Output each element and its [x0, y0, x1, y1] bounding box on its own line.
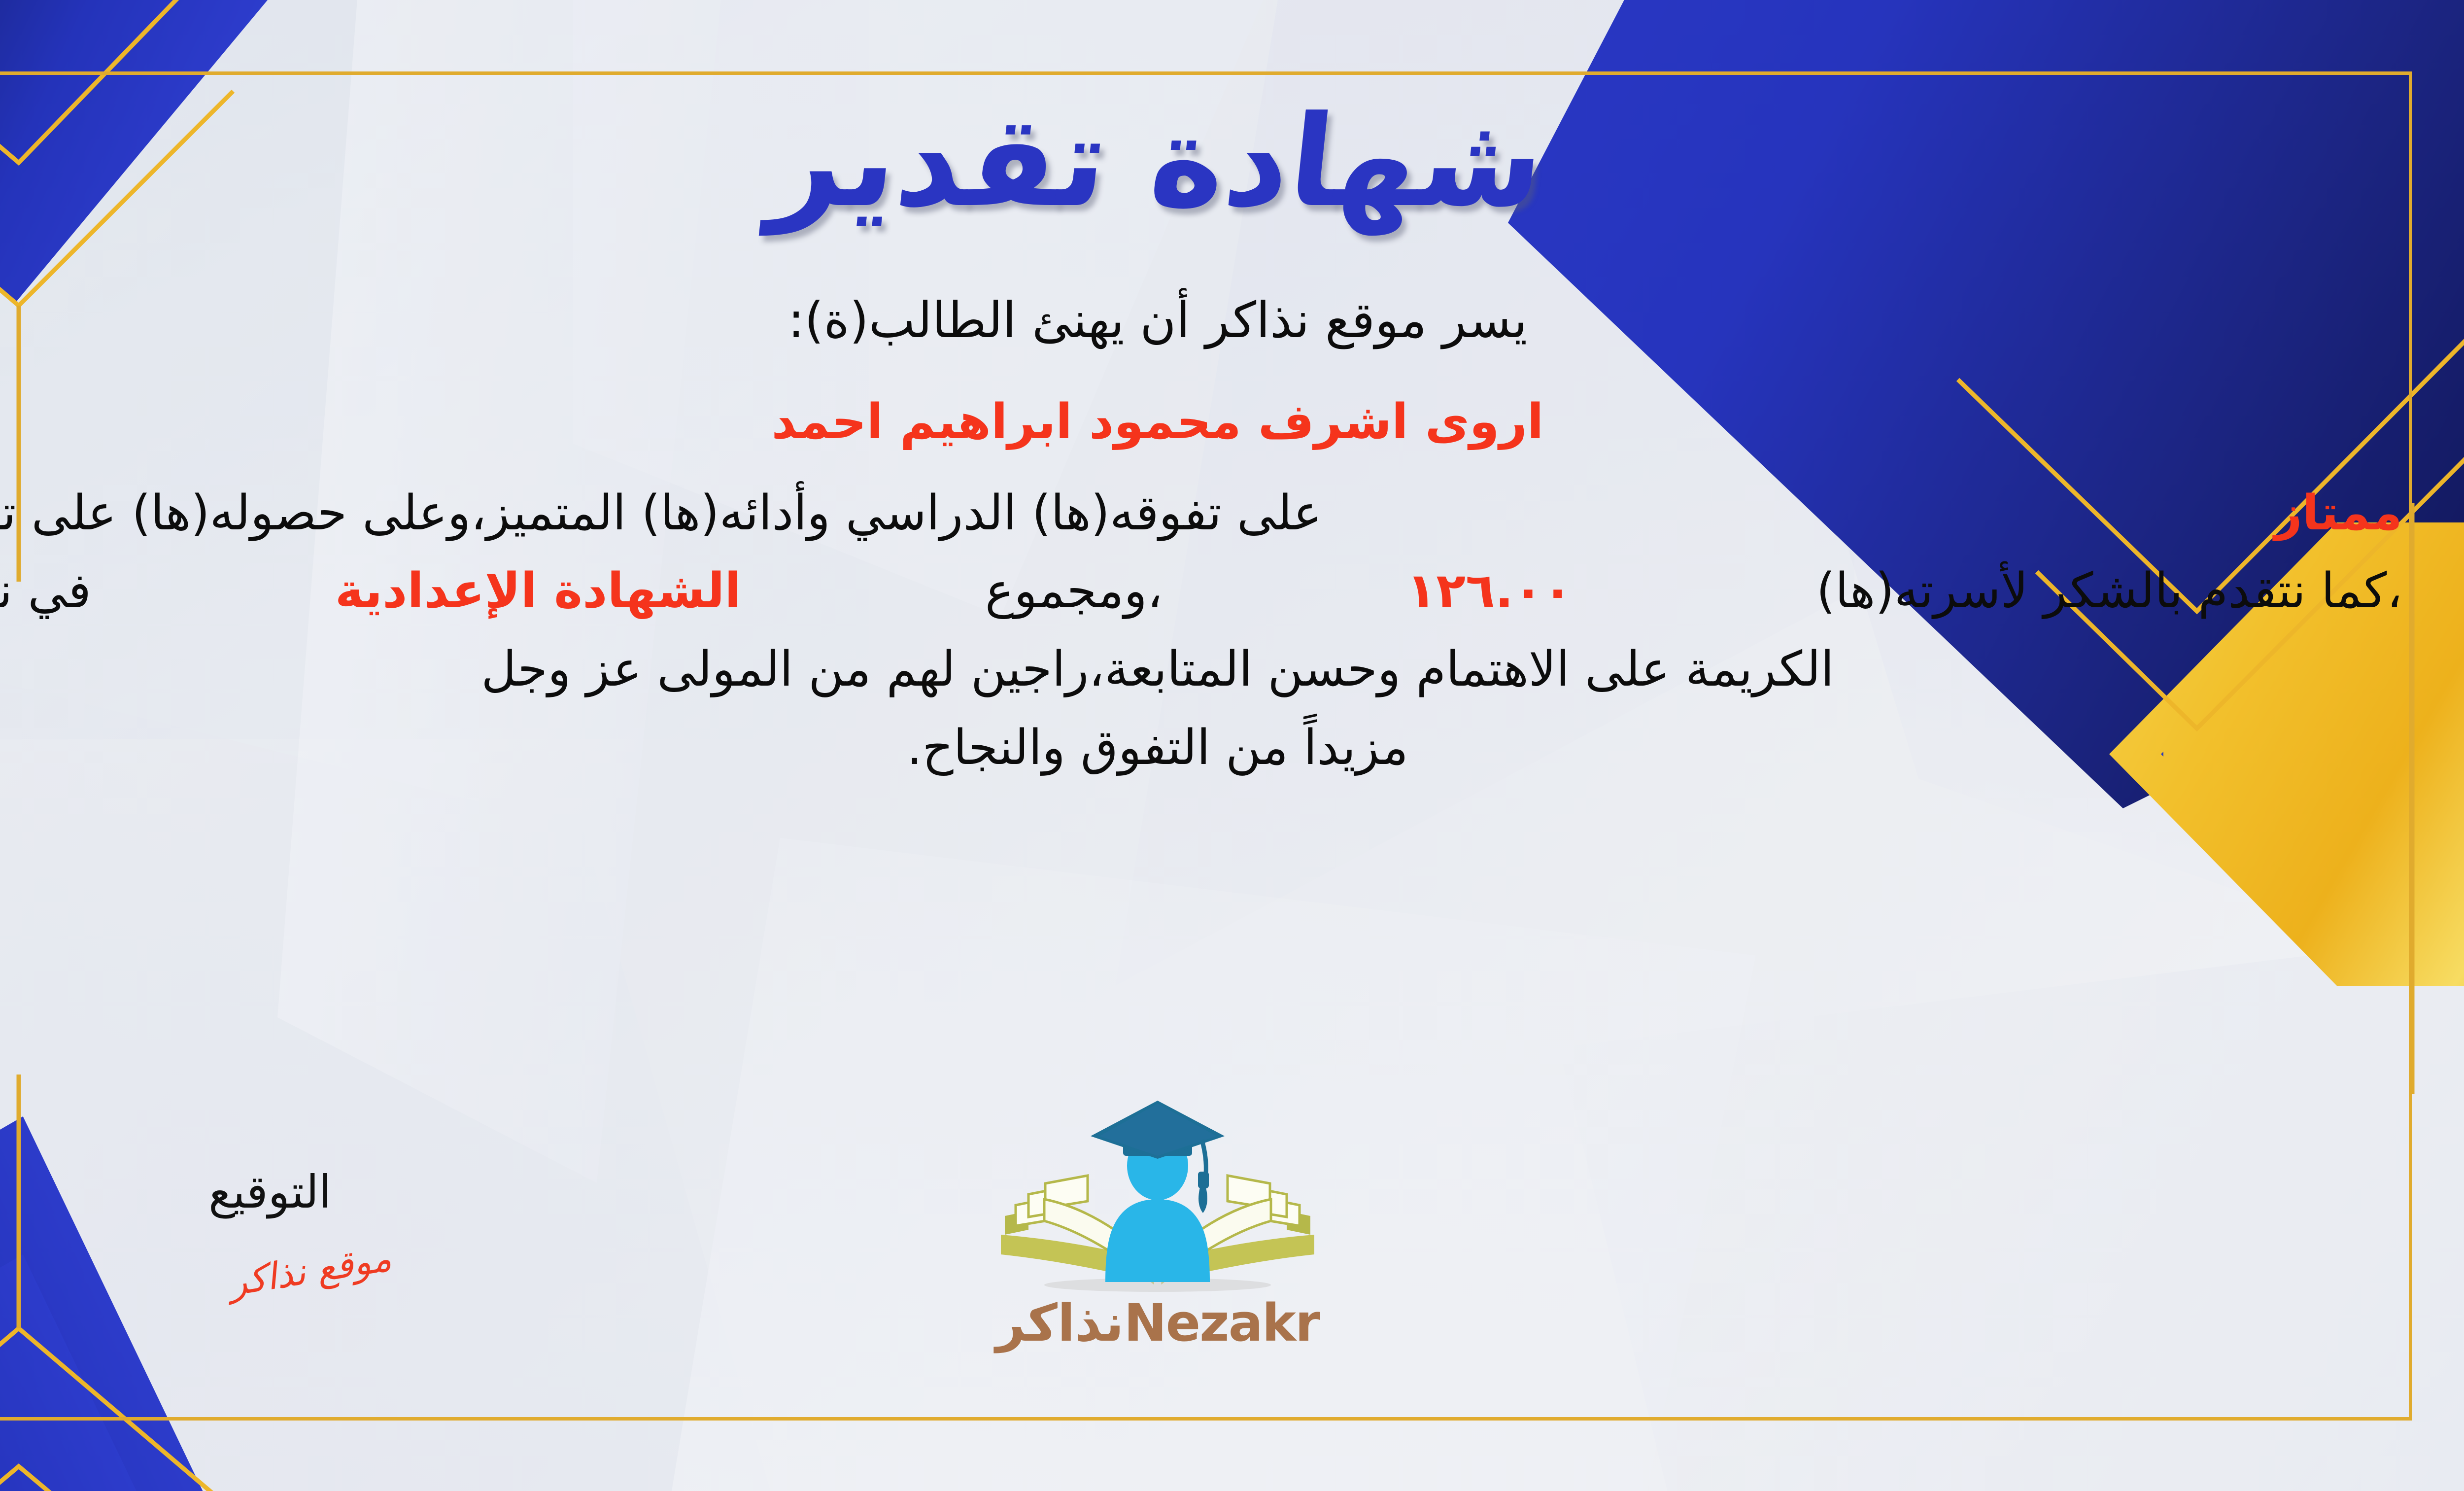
intro-line: يسر موقع نذاكر أن يهنئ الطالب(ة): [0, 280, 2402, 360]
certificate-page: شهادة تقدير يسر موقع نذاكر أن يهنئ الطال… [0, 0, 2464, 1491]
signature-label: التوقيع [208, 1166, 332, 1218]
exam-name-value: الشهادة الإعدادية [335, 552, 741, 630]
certificate-title: شهادة تقدير [763, 84, 1551, 241]
thanks-text: ،كما نتقدم بالشكر لأسرته(ها) [1816, 552, 2402, 630]
certificate-body: يسر موقع نذاكر أن يهنئ الطالب(ة): اروى ا… [0, 280, 2402, 787]
closing-wish-line: مزيداً من التفوق والنجاح. [0, 709, 2402, 787]
brand-logo: Nezakrنذاكر [970, 1087, 1345, 1353]
family-thanks-line: الكريمة على الاهتمام وحسن المتابعة،راجين… [0, 630, 2402, 709]
student-name: اروى اشرف محمود ابراهيم احمد [0, 383, 2402, 461]
total-score-value: ١٢٦.٠٠ [1406, 552, 1572, 630]
certificate-content: شهادة تقدير يسر موقع نذاكر أن يهنئ الطال… [0, 79, 2402, 1412]
handwritten-signature: موقع نذاكر [226, 1237, 394, 1305]
achievement-line: ممتاز على تفوقه(ها) الدراسي وأدائه(ها) ا… [0, 474, 2402, 553]
grade-value: ممتاز [2274, 474, 2402, 553]
signature-row: التوقيع موقع نذاكر [0, 1077, 2402, 1392]
achievement-text: على تفوقه(ها) الدراسي وأدائه(ها) المتميز… [0, 474, 1322, 553]
result-line: ،كما نتقدم بالشكر لأسرته(ها) ١٢٦.٠٠ ،ومج… [0, 552, 2402, 630]
total-label: ،ومجموع [985, 552, 1163, 630]
logo-wordmark: Nezakrنذاكر [970, 1293, 1345, 1353]
graduate-on-book-icon [970, 1087, 1345, 1299]
result-label: في نتيجة [0, 552, 91, 630]
